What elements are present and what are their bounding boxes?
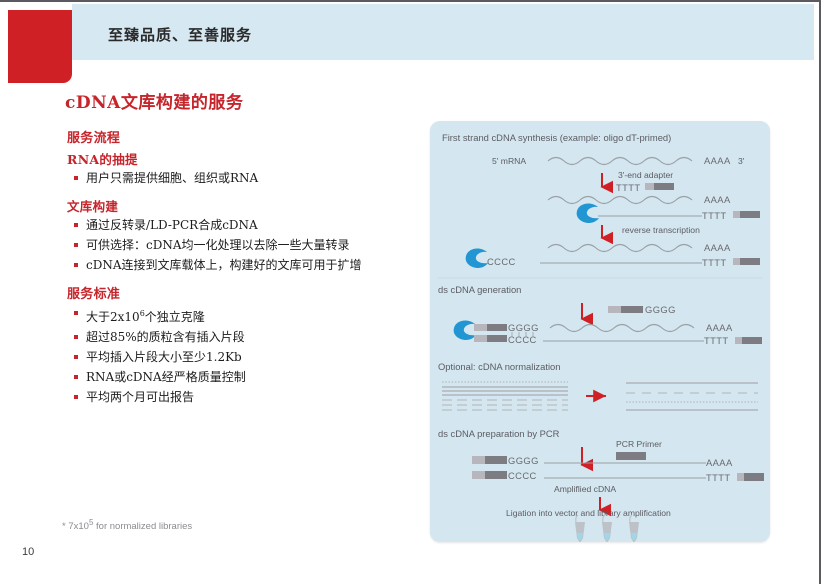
adapter-block-dark-3 (740, 258, 760, 265)
section-process: 服务流程 RNA的抽提 用户只需提供细胞、组织或RNA 文库构建 通过反转录/L… (62, 127, 422, 274)
gel-after (626, 383, 758, 410)
adapter-block-light-7 (735, 337, 742, 344)
polyt-tail-3: TTTT (704, 335, 729, 346)
gggg-seq-3: GGGG (508, 455, 539, 466)
enzyme-icon-2 (466, 249, 488, 268)
bullet-list-standards: 大于2x106个独立克隆 超过85%的质粒含有插入片段 平均插入片段大小至少1.… (62, 305, 422, 406)
list-item: 平均两个月可出报告 (62, 389, 422, 406)
label-reverse-transcription: reverse transcription (622, 225, 700, 235)
list-item: 超过85%的质粒含有插入片段 (62, 329, 422, 346)
header-title: 至臻品质、至善服务 (108, 24, 252, 45)
adapter-block-dark-7 (742, 337, 762, 344)
bullet-list-rna: 用户只需提供细胞、组织或RNA (62, 170, 422, 187)
adapter-block-light-2 (733, 211, 740, 218)
gggg-seq-2: GGGG (508, 322, 539, 333)
adapter-block-dark-9 (485, 471, 507, 479)
list-item: RNA或cDNA经严格质量控制 (62, 369, 422, 386)
list-item: 大于2x106个独立克隆 (62, 305, 422, 326)
polyt-tail-4: TTTT (706, 472, 731, 483)
item-text-pre: 超过85%的质粒含有插入片段 (86, 330, 245, 344)
section-title-normalization: Optional: cDNA normalization (438, 361, 560, 372)
mrna-wave-4 (550, 325, 694, 332)
bullet-list-library: 通过反转录/LD-PCR合成cDNA 可供选择：cDNA均一化处理以去除一些大量… (62, 217, 422, 274)
polyt-adapter-seq: TTTT (616, 182, 641, 193)
polya-tail-5: AAAA (706, 457, 733, 468)
adapter-block-dark-10 (744, 473, 764, 481)
page-title: cDNA文库构建的服务 (65, 88, 422, 113)
mrna-wave-3 (548, 245, 692, 252)
list-item: cDNA连接到文库载体上，构建好的文库可用于扩增 (62, 257, 422, 274)
page-number: 10 (22, 546, 34, 558)
enzyme-icon-1 (577, 204, 599, 223)
label-3end-adapter: 3'-end adapter (618, 170, 673, 180)
adapter-block-dark-4 (621, 306, 643, 313)
workflow-diagram-panel: First strand cDNA synthesis (example: ol… (430, 121, 770, 542)
footnote-post: for normalized libraries (93, 521, 192, 532)
left-content-column: cDNA文库构建的服务 服务流程 RNA的抽提 用户只需提供细胞、组织或RNA … (62, 88, 422, 415)
slide-canvas: 至臻品质、至善服务 cDNA文库构建的服务 服务流程 RNA的抽提 用户只需提供… (0, 0, 821, 584)
item-text-pre: 平均插入片段大小至少1.2Kb (86, 350, 242, 364)
polya-tail-2: AAAA (704, 194, 731, 205)
subheading-rna-extraction: RNA的抽提 (67, 149, 422, 168)
section-title-ds-generation: ds cDNA generation (438, 284, 521, 295)
enzyme-icon-3 (454, 321, 476, 340)
tube-icon-2 (602, 515, 612, 542)
adapter-block-light-8 (472, 456, 485, 464)
cccc-seq-1: CCCC (487, 256, 516, 267)
mrna-wave-1 (548, 158, 692, 165)
mrna-wave-2 (548, 197, 692, 204)
gel-before (442, 382, 568, 410)
footnote-pre: * 7x10 (62, 521, 89, 532)
footnote: * 7x105 for normalized libraries (62, 518, 192, 532)
section-title-pcr-prep: ds cDNA preparation by PCR (438, 428, 560, 439)
cccc-seq-3: CCCC (508, 470, 537, 481)
polya-tail-4: AAAA (706, 322, 733, 333)
label-amplified-cdna: Ampliflied cDNA (554, 484, 616, 494)
item-text-post: 个独立克隆 (145, 310, 205, 324)
label-pcr-primer: PCR Primer (616, 439, 662, 449)
adapter-block-dark-8 (485, 456, 507, 464)
label-3prime: 3' (738, 156, 745, 166)
section-heading-standards: 服务标准 (67, 283, 422, 302)
adapter-block-light-6 (474, 335, 487, 342)
list-item: 用户只需提供细胞、组织或RNA (62, 170, 422, 187)
adapter-block-light-3 (733, 258, 740, 265)
item-text-pre: 平均两个月可出报告 (86, 390, 194, 404)
subheading-library-construction: 文库构建 (67, 196, 422, 215)
section-standards: 服务标准 大于2x106个独立克隆 超过85%的质粒含有插入片段 平均插入片段大… (62, 283, 422, 406)
label-5prime-mrna: 5' mRNA (492, 156, 526, 166)
item-text-pre: 大于2x10 (86, 310, 140, 324)
adapter-block-dark-1 (654, 183, 674, 190)
polya-tail-1: AAAA (704, 155, 731, 166)
adapter-block-dark-5 (487, 324, 507, 331)
adapter-block-dark-2 (740, 211, 760, 218)
pcr-primer-block (616, 452, 646, 460)
polyt-tail-2: TTTT (702, 257, 727, 268)
section-title-first-strand: First strand cDNA synthesis (example: ol… (442, 132, 671, 143)
item-text-pre: RNA或cDNA经严格质量控制 (86, 370, 246, 384)
adapter-block-light-9 (472, 471, 485, 479)
adapter-block-dark-6 (487, 335, 507, 342)
tube-icons (575, 515, 639, 542)
gggg-seq-1: GGGG (645, 304, 676, 315)
polyt-tail-1: TTTT (702, 210, 727, 221)
adapter-block-light-4 (608, 306, 621, 313)
adapter-block-light-5 (474, 324, 487, 331)
adapter-block-light-1 (645, 183, 654, 190)
tube-icon-1 (575, 515, 585, 542)
section-heading-process: 服务流程 (67, 127, 422, 146)
tube-icon-3 (629, 515, 639, 542)
list-item: 可供选择：cDNA均一化处理以去除一些大量转录 (62, 237, 422, 254)
list-item: 通过反转录/LD-PCR合成cDNA (62, 217, 422, 234)
list-item: 平均插入片段大小至少1.2Kb (62, 349, 422, 366)
adapter-block-light-10 (737, 473, 744, 481)
brand-red-block (8, 10, 72, 83)
label-ligation: Ligation into vector and library amplifi… (506, 508, 671, 518)
polya-tail-3: AAAA (704, 242, 731, 253)
